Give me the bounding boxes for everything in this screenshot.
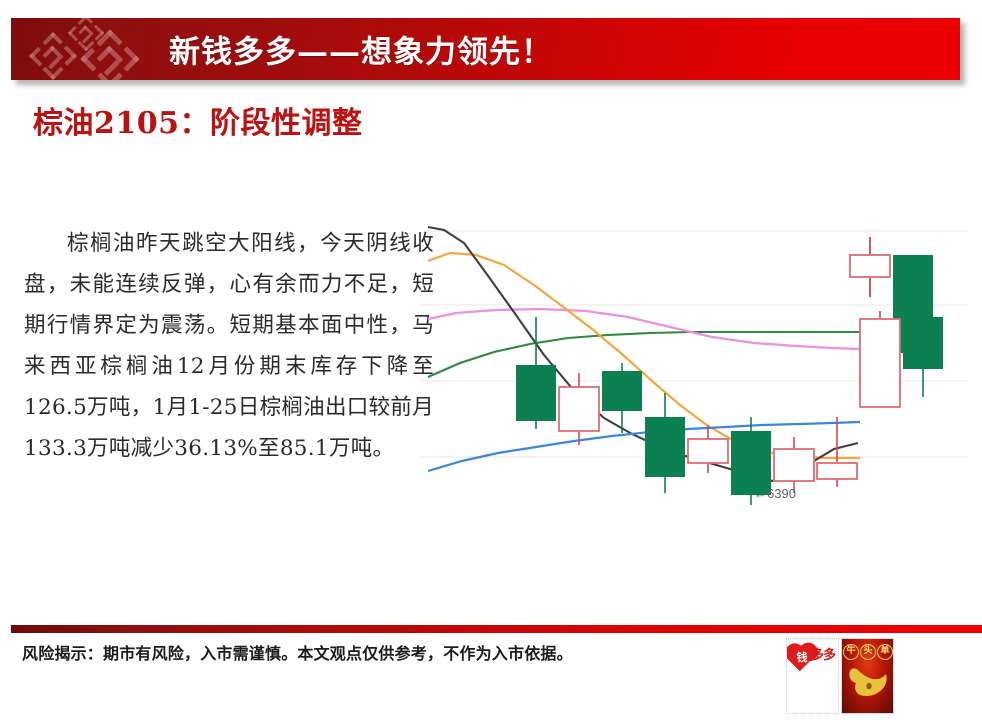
bull-char-1: 头: [860, 644, 876, 660]
candle-3: [559, 373, 599, 445]
ma-pink-line: [428, 309, 860, 349]
candle-4: [602, 363, 642, 433]
bull-chars: 牛 头 单: [842, 644, 894, 660]
bull-char-0: 牛: [843, 644, 859, 660]
logo-watermark-2: ∙∙: [890, 708, 892, 712]
header-title: 新钱多多——想象力领先！: [169, 27, 553, 72]
logo-qian-char: 钱: [795, 651, 809, 665]
candle-9: [817, 417, 857, 487]
chart-svg: ←6390: [420, 205, 968, 505]
price-annotation-6390: ←6390: [754, 486, 796, 501]
candle-2-body: [516, 317, 556, 429]
risk-disclaimer: 风险揭示：期市有风险，入市需谨慎。本文观点仅供参考，不作为入市依据。: [22, 640, 573, 664]
candlestick-chart: ←6390: [420, 205, 968, 505]
page-title: 棕油2105：阶段性调整: [33, 104, 433, 144]
candle-10: [860, 311, 900, 407]
body-paragraph: 棕榈油昨天跳空大阳线，今天阴线收盘，未能连续反弹，心有余而力不足，短期行情界定为…: [24, 223, 434, 469]
qianduoduo-logo: 钱 多多 ∙∙∙: [786, 638, 839, 714]
candle-0-body: [850, 237, 890, 297]
logo-watermark: ∙∙∙: [834, 708, 836, 712]
candle-5: [645, 393, 685, 493]
golden-bull-icon: [847, 665, 889, 699]
ma-green-line: [428, 332, 860, 377]
niutoudan-logo: 牛 头 单 ∙∙: [841, 638, 894, 714]
header-banner: 新钱多多——想象力领先！: [11, 18, 960, 80]
logo-duoduo-text: 多多: [811, 649, 835, 662]
footer-logos: 钱 多多 ∙∙∙ 牛 头 单 ∙∙: [786, 638, 894, 712]
chinese-knot-diamond-icon: [31, 20, 151, 80]
footer-divider: [11, 625, 982, 633]
bull-char-2: 单: [877, 644, 893, 660]
